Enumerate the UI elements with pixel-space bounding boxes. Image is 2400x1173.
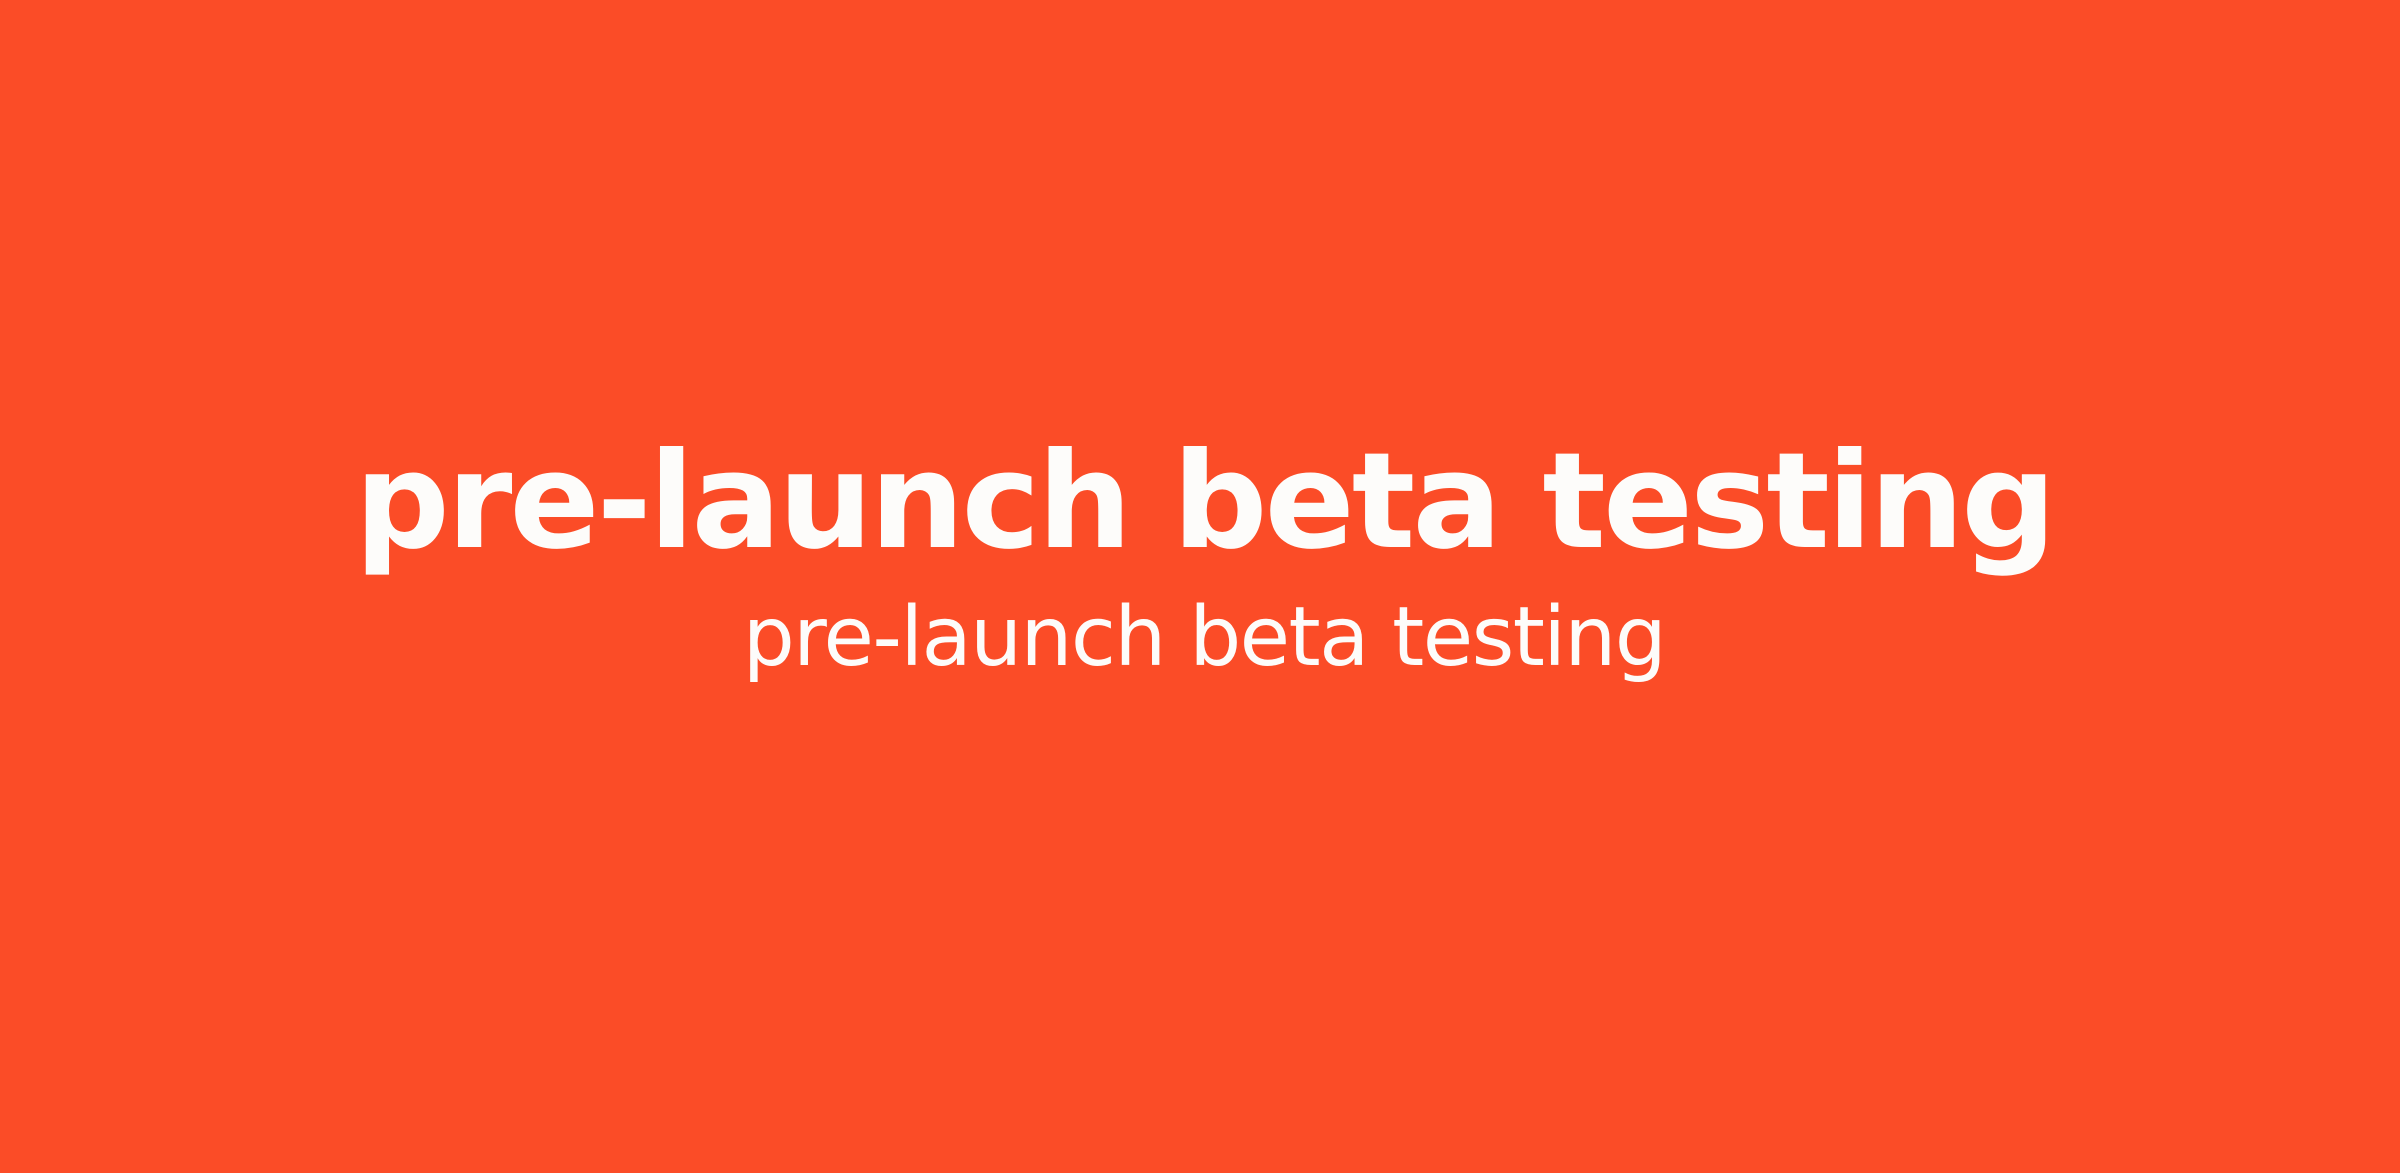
page-title: pre-launch beta testing bbox=[355, 436, 2054, 569]
hero-text-block: pre-launch beta testing pre-launch beta … bbox=[0, 0, 2400, 1173]
page-subtitle: pre-launch beta testing bbox=[743, 597, 1666, 679]
title-card-canvas: pre-launch beta testing pre-launch beta … bbox=[0, 0, 2400, 1173]
